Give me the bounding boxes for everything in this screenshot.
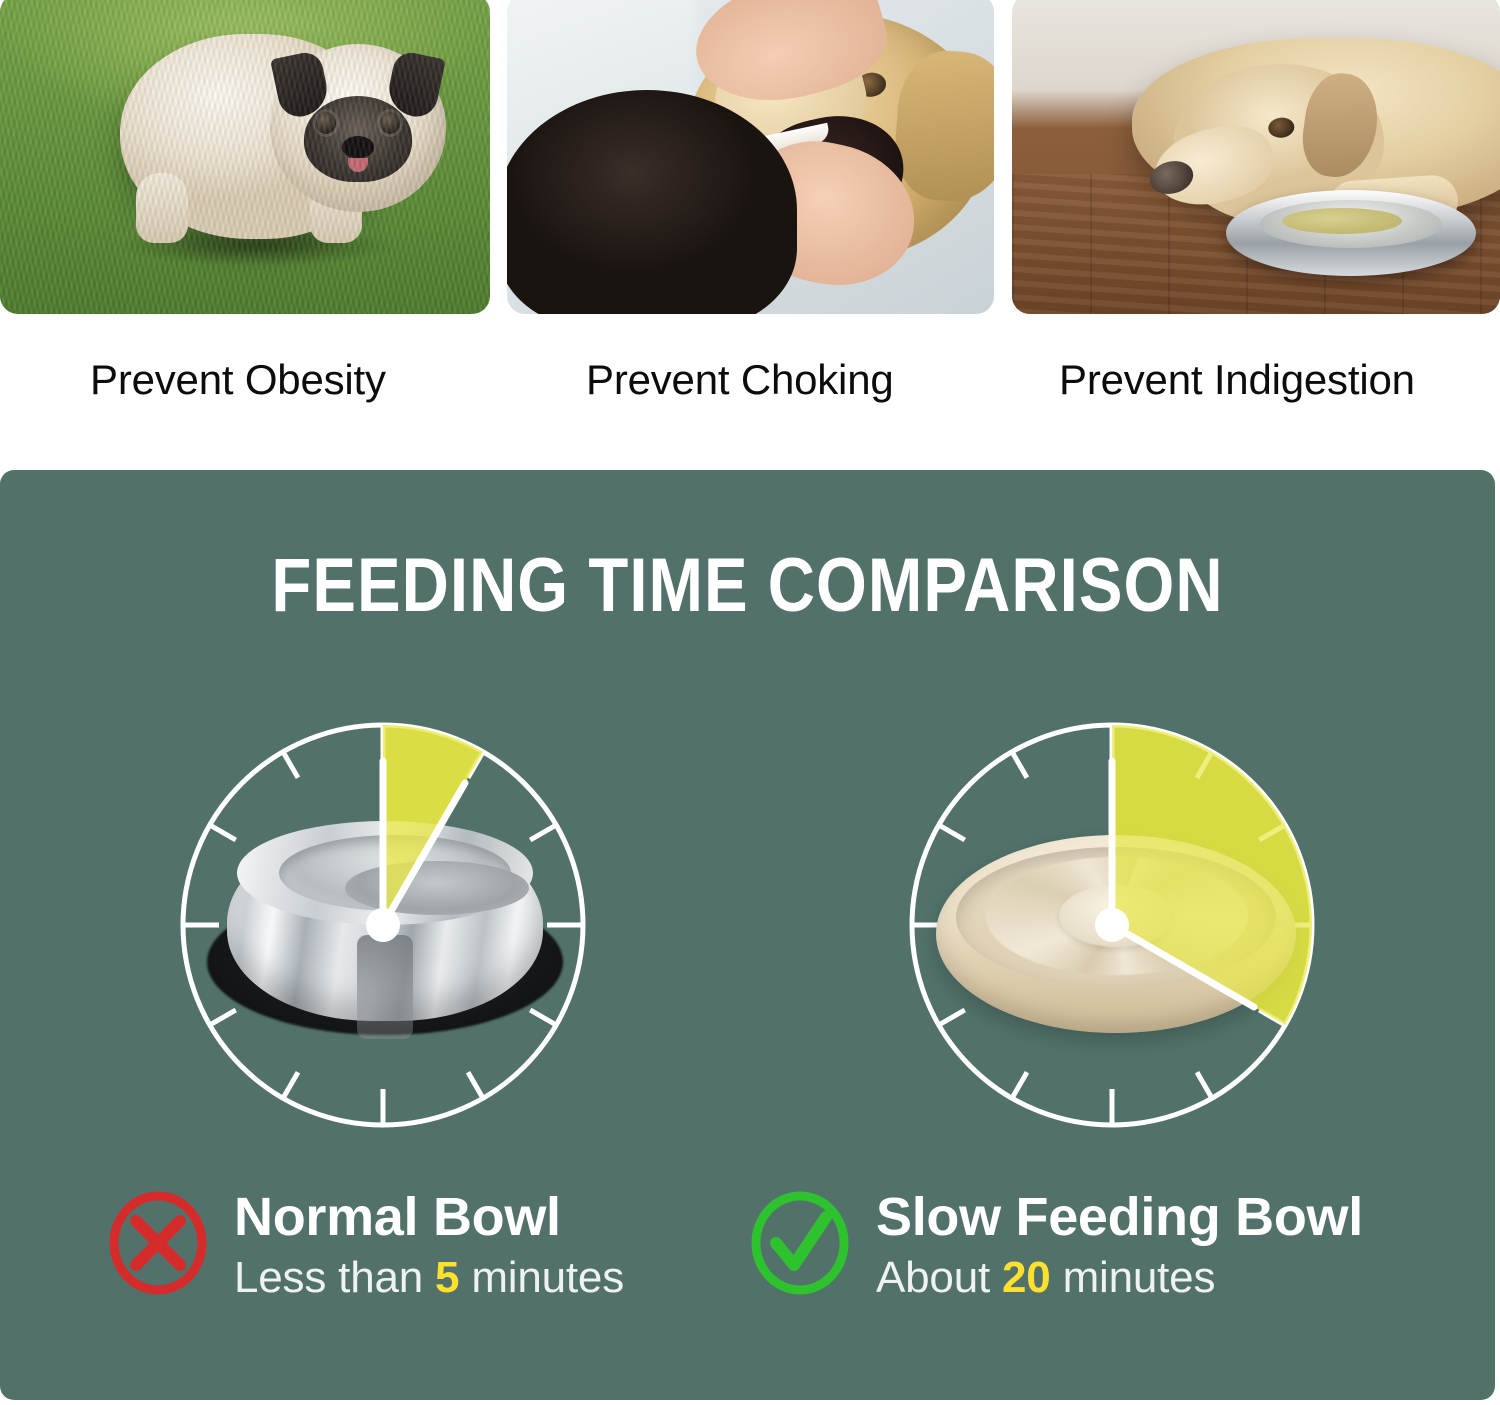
panel-title: FEEDING TIME COMPARISON (105, 542, 1391, 629)
pug-shadow (118, 226, 398, 266)
golden-retriever-ear (892, 47, 994, 205)
benefit-caption-obesity: Prevent Obesity (90, 352, 386, 408)
result-text-block-normal: Normal Bowl Less than 5 minutes (234, 1185, 624, 1307)
comparison-panel: FEEDING TIME COMPARISON (0, 470, 1495, 1400)
benefit-photo-obesity (0, 0, 490, 314)
clock-hands-slow (902, 715, 1322, 1135)
circled-cross-icon (106, 1191, 210, 1295)
pug-front-leg-right (310, 173, 362, 243)
circled-check-icon (748, 1191, 852, 1295)
result-text-block-slow: Slow Feeding Bowl About 20 minutes (876, 1185, 1363, 1307)
pug-ear-right (384, 49, 446, 120)
benefit-caption-indigestion: Prevent Indigestion (1059, 352, 1415, 408)
time-suffix: minutes (1051, 1253, 1216, 1302)
time-value: 20 (1002, 1253, 1051, 1302)
stainless-food-bowl (1226, 190, 1476, 276)
time-prefix: About (876, 1253, 1002, 1302)
pug-head (270, 44, 446, 212)
clock-center-dot (1095, 908, 1129, 942)
sick-labrador-photo (1012, 0, 1500, 314)
benefit-photo-choking (507, 0, 994, 314)
labrador-ear (1298, 69, 1384, 182)
pug-body (120, 34, 380, 239)
clock-hands-normal (173, 715, 593, 1135)
pug-eye-right (380, 112, 400, 134)
benefit-photo-indigestion (1012, 0, 1500, 314)
time-value: 5 (435, 1253, 459, 1302)
pug-eye-left (316, 112, 336, 134)
result-normal-bowl: Normal Bowl Less than 5 minutes (106, 1185, 726, 1315)
pug-ear-left (270, 49, 332, 120)
result-slow-bowl: Slow Feeding Bowl About 20 minutes (748, 1185, 1488, 1315)
benefit-caption-choking: Prevent Choking (586, 352, 894, 408)
time-suffix: minutes (459, 1253, 624, 1302)
labrador-eye (1267, 116, 1295, 139)
pug-nose (342, 136, 374, 158)
pug-front-leg-left (136, 173, 188, 243)
clock-center-dot (366, 908, 400, 942)
pug-tongue (348, 158, 368, 172)
clock-normal-bowl (173, 715, 593, 1135)
bowl-name-normal: Normal Bowl (234, 1185, 624, 1249)
feeding-time-normal: Less than 5 minutes (234, 1249, 624, 1307)
bowl-food (1282, 208, 1402, 234)
pug-face (304, 96, 412, 182)
benefit-photo-strip: Prevent Obesity Prevent Choking Prevent … (0, 0, 1500, 455)
feeding-time-slow: About 20 minutes (876, 1249, 1363, 1307)
bowl-name-slow: Slow Feeding Bowl (876, 1185, 1363, 1249)
clock-slow-bowl (902, 715, 1322, 1135)
choking-dog-photo (507, 0, 994, 314)
overweight-pug-photo (0, 0, 490, 314)
time-prefix: Less than (234, 1253, 435, 1302)
